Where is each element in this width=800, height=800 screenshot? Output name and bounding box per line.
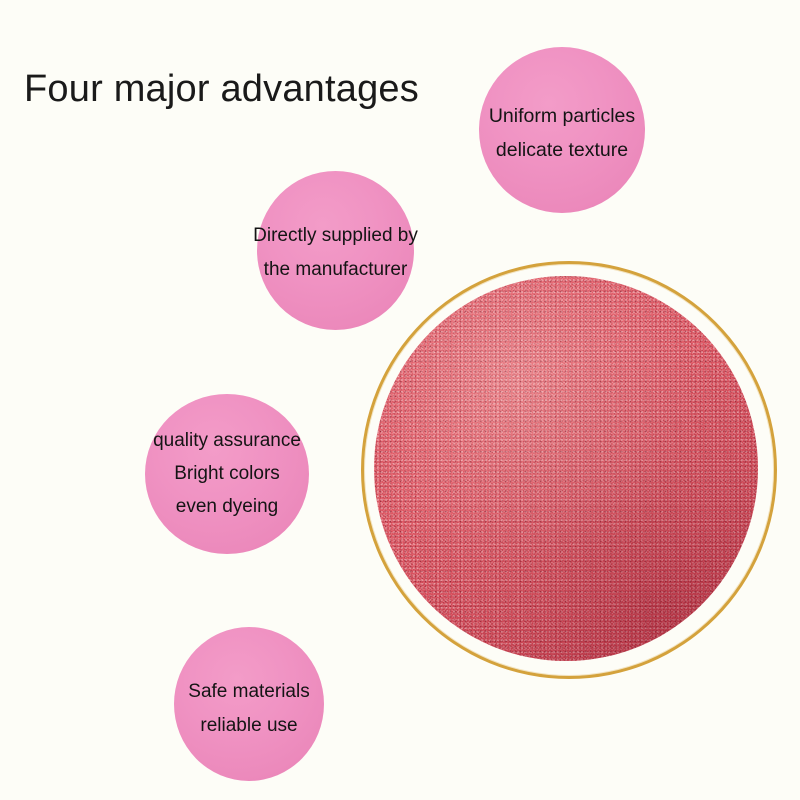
advantage-line: the manufacturer xyxy=(264,253,408,287)
advantage-line: even dyeing xyxy=(176,490,278,523)
advantage-line: delicate texture xyxy=(496,133,628,167)
advantage-bubble-uniform-particles: Uniform particles delicate texture xyxy=(479,47,645,213)
advantage-line: Uniform particles xyxy=(489,99,635,133)
page-title: Four major advantages xyxy=(24,65,419,113)
advantage-line: quality assurance xyxy=(153,424,301,457)
product-granule-disc xyxy=(374,276,758,661)
grain-sheen-overlay xyxy=(374,276,758,661)
advantages-poster: Four major advantages Uniform particles … xyxy=(0,0,800,800)
advantage-bubble-quality-assurance: quality assurance Bright colors even dye… xyxy=(145,394,309,554)
advantage-line: reliable use xyxy=(200,709,297,743)
advantage-line: Directly supplied by xyxy=(253,219,418,253)
advantage-bubble-direct-supply: Directly supplied by the manufacturer xyxy=(257,171,414,330)
advantage-line: Bright colors xyxy=(174,457,280,490)
advantage-line: Safe materials xyxy=(188,675,309,709)
advantage-bubble-safe-materials: Safe materials reliable use xyxy=(174,627,324,781)
